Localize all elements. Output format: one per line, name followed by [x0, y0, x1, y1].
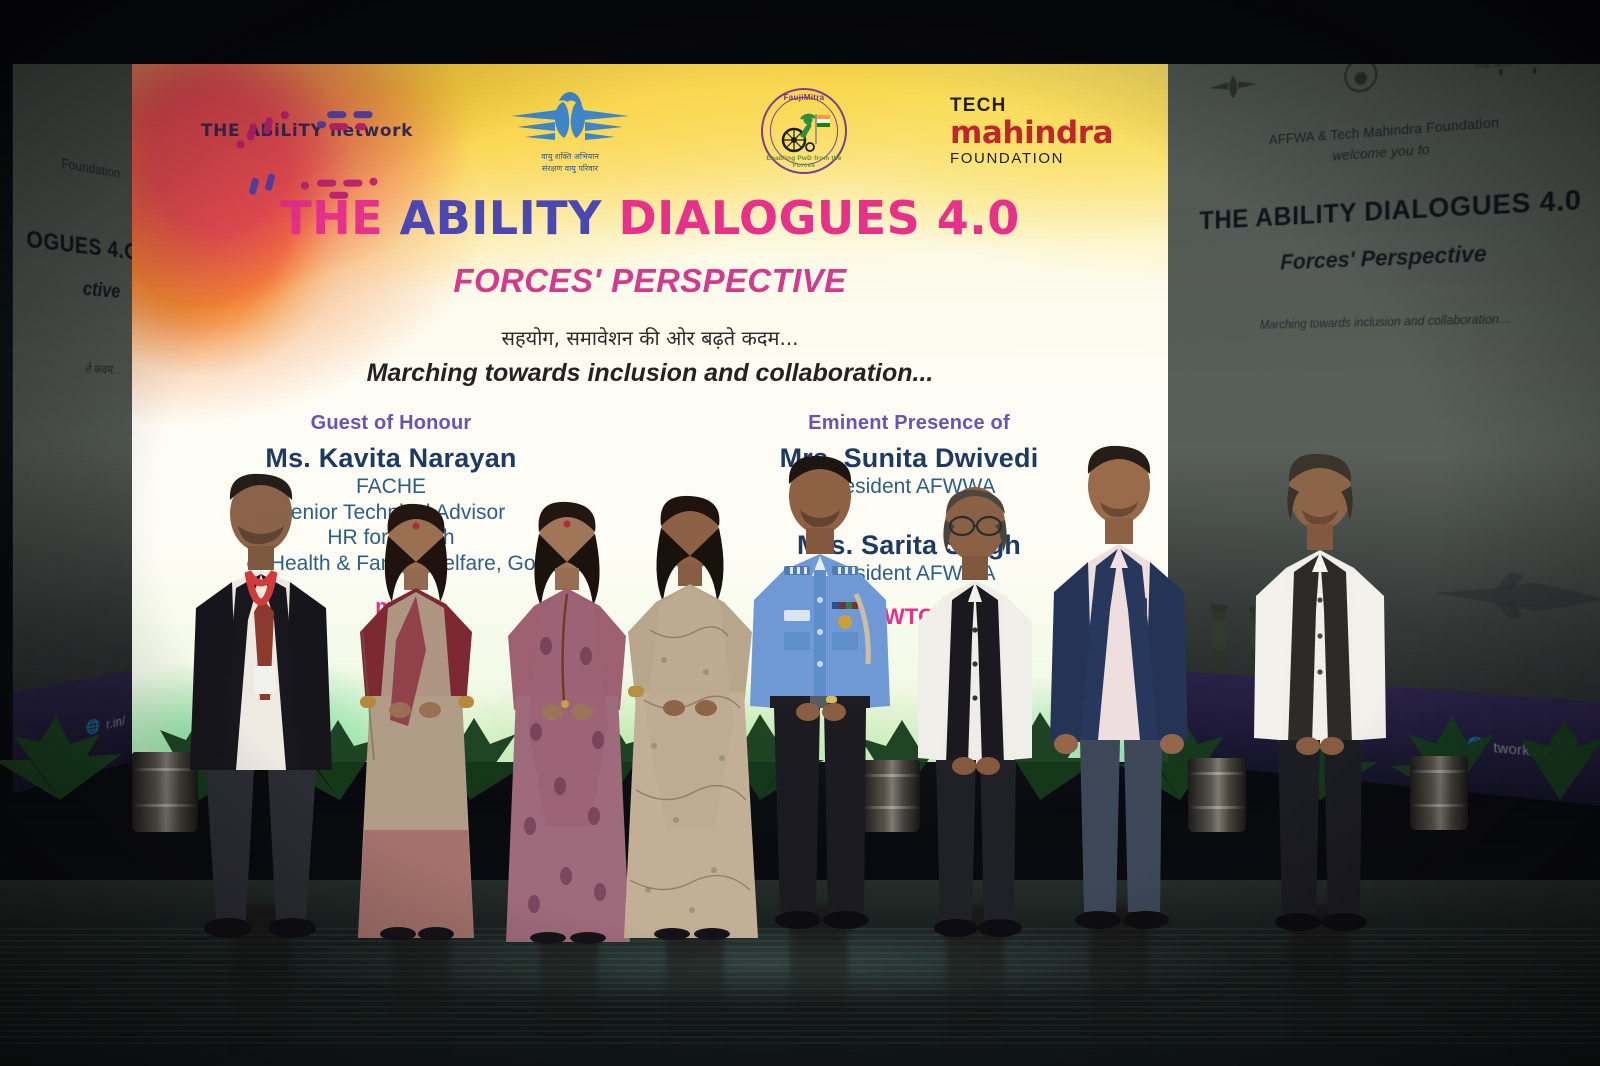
person-6-black-nehru-vest	[900, 478, 1050, 940]
person-5-air-force-officer	[742, 450, 898, 940]
person-1-dark-suit-red-lanyard	[176, 470, 346, 940]
dignitaries-group	[0, 0, 1600, 1066]
person-7-navy-blazer	[1040, 440, 1198, 940]
ceiling-dark-band	[0, 0, 1600, 64]
person-2-maroon-saree	[340, 500, 492, 940]
person-8-dark-nehru-vest	[1240, 444, 1400, 940]
event-stage-photograph: Foundation OGUES 4.O ctive ते कदम... 🌐 r…	[0, 0, 1600, 1066]
